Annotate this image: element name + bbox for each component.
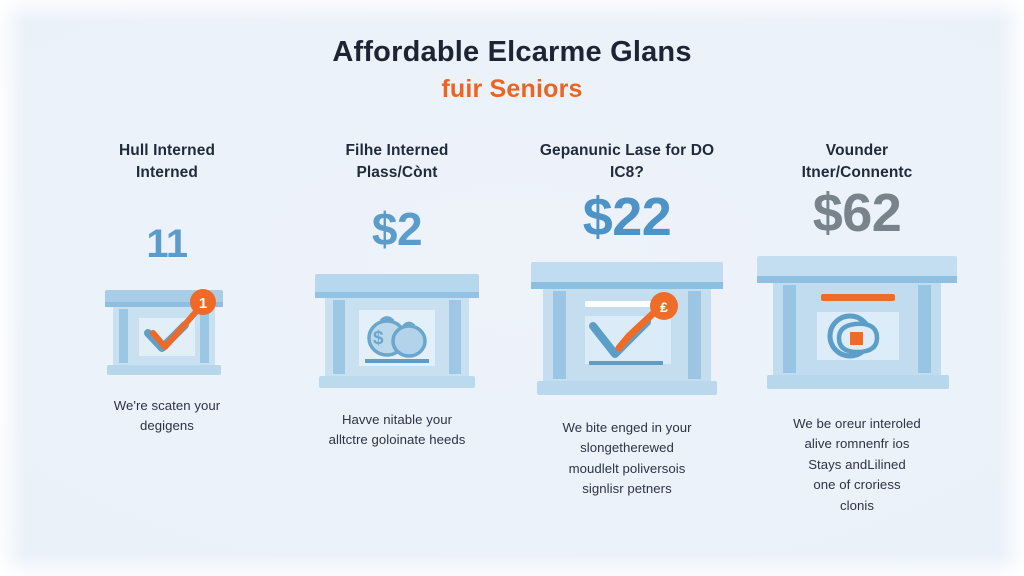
- column-4-heading-line2: Itner/Connentc: [802, 162, 913, 184]
- column-1-heading-line2: Interned: [119, 162, 215, 184]
- column-4-value: $62: [813, 186, 902, 240]
- column-4-caption-line2: alive romnenfr ios: [793, 434, 921, 454]
- svg-text:$: $: [373, 328, 384, 349]
- bank-check-arrow-icon: ₤: [527, 256, 727, 406]
- bank-money-bags-icon: $: [307, 266, 487, 396]
- column-3-caption-line1: We bite enged in your: [562, 418, 691, 438]
- column-1-illustration: 1: [97, 280, 237, 380]
- column-2-value: $2: [372, 206, 422, 252]
- column-1-heading: Hull Interned Interned: [113, 140, 221, 184]
- column-3-illustration: ₤: [527, 256, 727, 406]
- column-4-caption-line3: Stays andLilined: [793, 455, 921, 475]
- column-3-heading-line2: IC8?: [540, 162, 714, 184]
- column-2-caption-line1: Havve nitable your: [329, 410, 466, 430]
- column-2-heading-line1: Filhe Interned: [345, 140, 448, 162]
- infographic-canvas: Affordable Elcarme Glans fuir Seniors Hu…: [0, 0, 1024, 576]
- column-1-caption-line1: We're scaten your: [114, 396, 220, 416]
- column-2: Filhe Interned Plass/Cònt $2: [282, 140, 512, 451]
- column-1-caption-line2: degigens: [114, 416, 220, 436]
- column-4-caption-line5: clonis: [793, 496, 921, 516]
- column-1-caption: We're scaten your degigens: [106, 396, 228, 437]
- column-1-heading-line1: Hull Interned: [119, 140, 215, 162]
- column-3-heading-line1: Gepanunic Lase for DO: [540, 140, 714, 162]
- page-subtitle: fuir Seniors: [0, 75, 1024, 104]
- column-group: Hull Interned Interned 11: [52, 140, 972, 516]
- column-2-caption: Havve nitable your alltctre goloinate he…: [321, 410, 474, 451]
- column-2-heading: Filhe Interned Plass/Cònt: [339, 140, 454, 184]
- column-1-value: 11: [146, 224, 187, 264]
- column-4-illustration: [755, 252, 960, 402]
- bank-arrow-badge-icon: 1: [97, 280, 237, 380]
- column-4-heading: Vounder Itner/Connentc: [796, 140, 919, 184]
- column-3: Gepanunic Lase for DO IC8? $22: [512, 140, 742, 500]
- bank-ring-orange-icon: [755, 252, 960, 402]
- column-3-heading: Gepanunic Lase for DO IC8?: [534, 140, 720, 184]
- column-4: Vounder Itner/Connentc $62: [742, 140, 972, 516]
- column-4-heading-line1: Vounder: [802, 140, 913, 162]
- column-2-heading-line2: Plass/Cònt: [345, 162, 448, 184]
- column-2-illustration: $: [307, 266, 487, 396]
- column-3-value: $22: [583, 190, 672, 244]
- column-4-caption: We be oreur interoled alive romnenfr ios…: [785, 414, 929, 516]
- column-3-caption-line2: slongetherewed: [562, 438, 691, 458]
- column-4-caption-line1: We be oreur interoled: [793, 414, 921, 434]
- column-4-caption-line4: one of croriess: [793, 475, 921, 495]
- column-2-caption-line2: alltctre goloinate heeds: [329, 430, 466, 450]
- svg-text:₤: ₤: [660, 299, 668, 315]
- column-3-caption-line3: moudlelt poliversois: [562, 459, 691, 479]
- page-title: Affordable Elcarme Glans: [0, 36, 1024, 69]
- column-3-caption: We bite enged in your slongetherewed mou…: [554, 418, 699, 500]
- column-1: Hull Interned Interned 11: [52, 140, 282, 437]
- svg-text:1: 1: [199, 295, 207, 312]
- header: Affordable Elcarme Glans fuir Seniors: [0, 36, 1024, 104]
- column-3-caption-line4: signlisr petners: [562, 479, 691, 499]
